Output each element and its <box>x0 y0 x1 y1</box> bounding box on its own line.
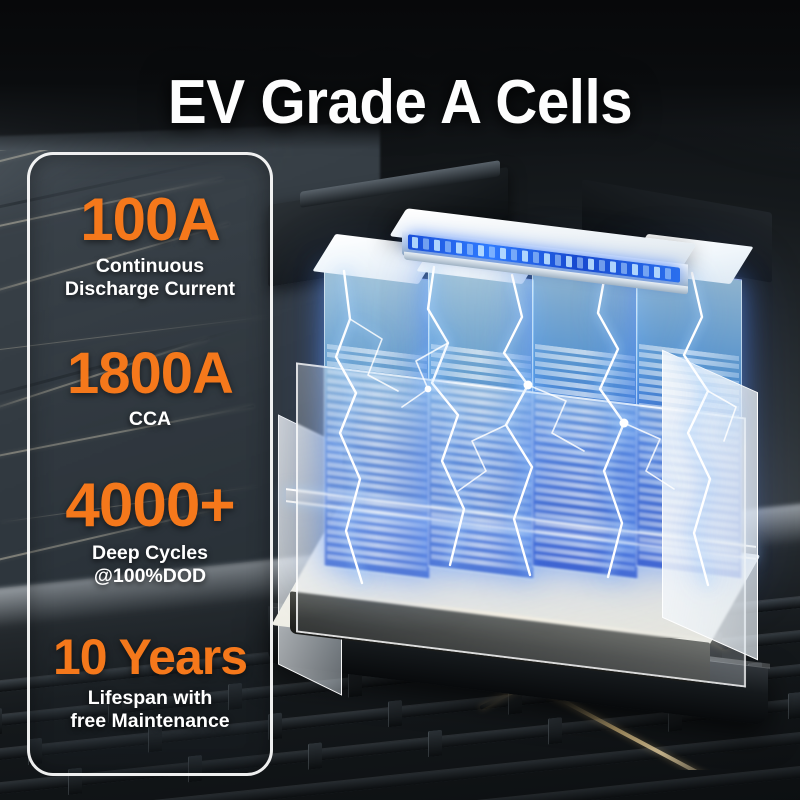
bms-busbar-plate <box>398 225 698 295</box>
stat-cca: 1800A CCA <box>36 346 264 431</box>
stat-continuous-discharge-current: 100A Continuous Discharge Current <box>36 191 264 301</box>
stat-label-continuous-discharge-current: Continuous Discharge Current <box>36 255 264 301</box>
stat-lifespan: 10 Years Lifespan with free Maintenance <box>36 633 264 733</box>
page-title: EV Grade A Cells <box>24 70 776 135</box>
stat-deep-cycles: 4000+ Deep Cycles @100%DOD <box>36 476 264 588</box>
stat-value-4000plus: 4000+ <box>36 476 264 537</box>
case-wall-right <box>662 350 758 661</box>
spec-card: 100A Continuous Discharge Current 1800A … <box>27 152 273 776</box>
product-marketing-banner: EV Grade A Cells 100A Continuous Dischar… <box>0 0 800 800</box>
stat-label-cca: CCA <box>36 408 264 431</box>
stat-label-lifespan: Lifespan with free Maintenance <box>36 687 264 733</box>
stat-value-1800a: 1800A <box>36 346 264 403</box>
stat-label-deep-cycles: Deep Cycles @100%DOD <box>36 542 264 588</box>
stat-value-100a: 100A <box>36 191 264 250</box>
stat-value-10-years: 10 Years <box>36 633 264 682</box>
battery-pack-render <box>270 225 800 785</box>
